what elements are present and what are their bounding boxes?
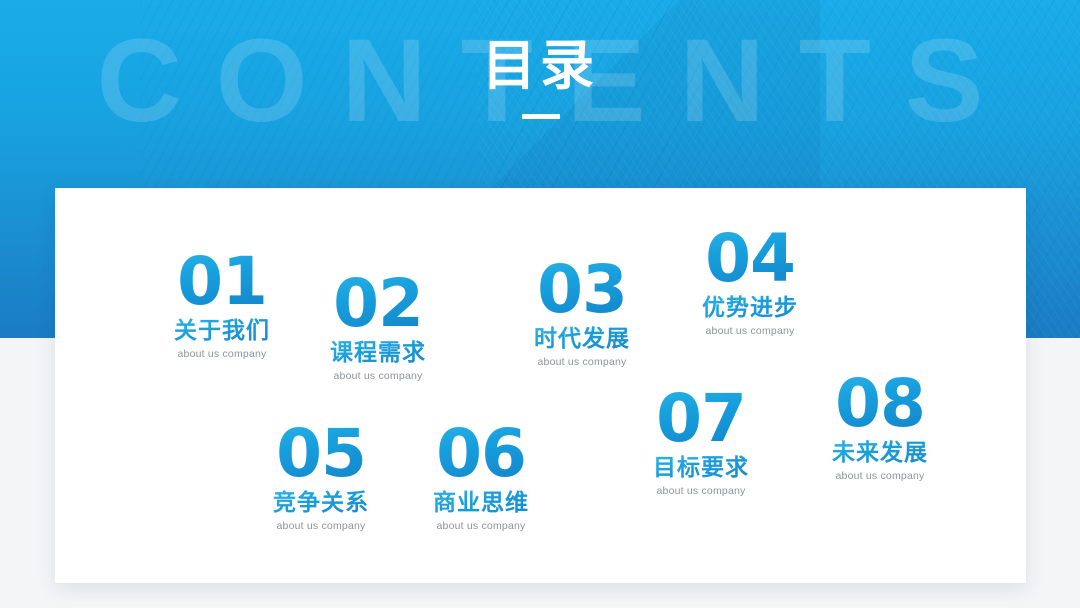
page-title: 目录 xyxy=(0,38,1080,95)
toc-item-06[interactable]: 06 商业思维 about us company xyxy=(419,424,543,532)
toc-item-02-label: 课程需求 xyxy=(316,339,440,365)
toc-item-04-number: 04 xyxy=(705,220,795,297)
contents-slide: CONTENTS 目录 01 关于我们 about us company 02 … xyxy=(0,0,1080,608)
toc-item-08-subtitle: about us company xyxy=(818,470,942,482)
toc-item-01-subtitle: about us company xyxy=(160,348,284,360)
toc-item-06-label: 商业思维 xyxy=(419,489,543,515)
toc-item-01-number: 01 xyxy=(177,243,267,320)
toc-item-07-subtitle: about us company xyxy=(639,485,763,497)
toc-item-01-label: 关于我们 xyxy=(160,317,284,343)
toc-item-03-label: 时代发展 xyxy=(520,325,644,351)
toc-item-07-number: 07 xyxy=(656,380,746,457)
toc-item-03-number: 03 xyxy=(537,251,627,328)
toc-item-08-number: 08 xyxy=(835,365,925,442)
title-underline xyxy=(522,114,560,119)
toc-item-05-number: 05 xyxy=(276,415,366,492)
toc-item-02-subtitle: about us company xyxy=(316,370,440,382)
toc-item-03[interactable]: 03 时代发展 about us company xyxy=(520,260,644,368)
toc-item-06-subtitle: about us company xyxy=(419,520,543,532)
toc-item-07[interactable]: 07 目标要求 about us company xyxy=(639,389,763,497)
toc-item-08-label: 未来发展 xyxy=(818,439,942,465)
toc-item-06-number: 06 xyxy=(436,415,526,492)
toc-item-05[interactable]: 05 竞争关系 about us company xyxy=(259,424,383,532)
toc-item-04-label: 优势进步 xyxy=(688,294,812,320)
toc-item-04-subtitle: about us company xyxy=(688,325,812,337)
toc-item-08[interactable]: 08 未来发展 about us company xyxy=(818,374,942,482)
toc-item-03-subtitle: about us company xyxy=(520,356,644,368)
toc-item-04[interactable]: 04 优势进步 about us company xyxy=(688,229,812,337)
toc-item-05-subtitle: about us company xyxy=(259,520,383,532)
toc-item-01[interactable]: 01 关于我们 about us company xyxy=(160,252,284,360)
toc-item-02-number: 02 xyxy=(333,265,423,342)
toc-item-05-label: 竞争关系 xyxy=(259,489,383,515)
toc-item-02[interactable]: 02 课程需求 about us company xyxy=(316,274,440,382)
toc-item-07-label: 目标要求 xyxy=(639,454,763,480)
